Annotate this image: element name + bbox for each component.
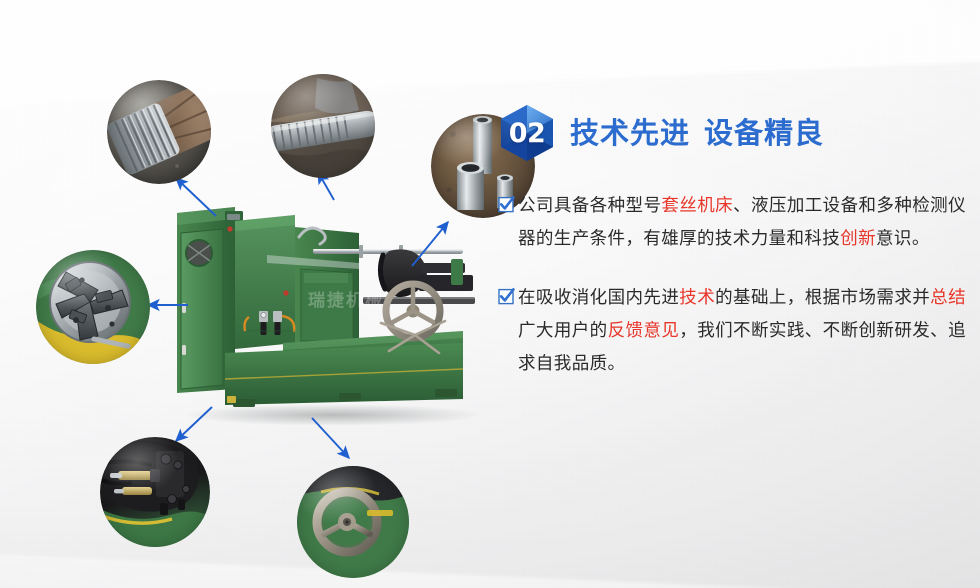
checkbox-checked-icon [498,196,515,213]
bullet-text-2: 在吸收消化国内先进技术的基础上，根据市场需求并总结广大用户的反馈意见，我们不断实… [518,282,966,381]
seg: 公司具备各种型号 [518,196,661,216]
callout-threaded-rod-end[interactable] [107,80,211,184]
seg-highlight: 技术 [679,288,715,308]
promo-banner-root: 瑞捷机械 [0,0,980,588]
seg: 在吸收消化国内先进 [518,288,679,308]
section-number-badge: 02 [498,104,556,162]
product-photo-thread-rolling-machine: 瑞捷机械 [163,193,493,425]
seg: 的基础上，根据市场需求并 [715,288,930,308]
callout-handwheel[interactable] [297,466,409,578]
section-header: 02 技术先进设备精良 [498,104,966,162]
bullet-list: 公司具备各种型号套丝机床、液压加工设备和多种检测仪器的生产条件，有雄厚的技术力量… [498,190,966,381]
checkbox-checked-icon [498,288,515,305]
callout-die-head[interactable] [36,250,150,364]
seg-highlight: 反馈意见 [608,321,680,341]
callout-threaded-bar[interactable] [271,74,375,178]
content-column: 02 技术先进设备精良 公司具备各种型号套丝机床、液压加工设备和多种检测仪器的生… [498,104,966,407]
section-title: 技术先进设备精良 [570,119,824,148]
bullet-text-1: 公司具备各种型号套丝机床、液压加工设备和多种检测仪器的生产条件，有雄厚的技术力量… [518,190,966,256]
seg: 广大用户的 [518,321,608,341]
section-number-text: 02 [498,104,556,162]
list-item: 在吸收消化国内先进技术的基础上，根据市场需求并总结广大用户的反馈意见，我们不断实… [498,282,966,381]
section-title-part2: 设备精良 [704,116,824,150]
section-title-part1: 技术先进 [570,116,690,150]
callout-hydraulic-valves[interactable] [100,437,210,547]
seg-highlight: 创新 [840,229,876,249]
seg-highlight: 套丝机床 [661,196,733,216]
seg: 意识。 [876,229,930,249]
list-item: 公司具备各种型号套丝机床、液压加工设备和多种检测仪器的生产条件，有雄厚的技术力量… [498,190,966,256]
seg-highlight: 总结 [930,288,966,308]
